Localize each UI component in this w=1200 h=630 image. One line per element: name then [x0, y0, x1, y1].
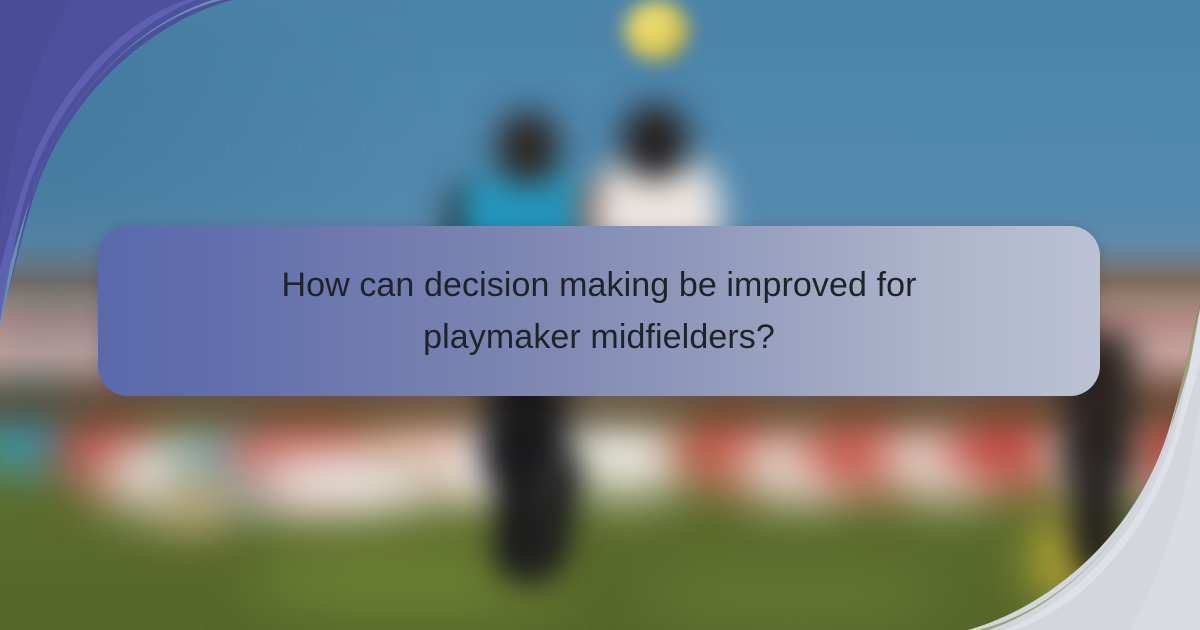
- question-card: How can decision making be improved for …: [98, 226, 1100, 396]
- player-right-head: [622, 105, 688, 179]
- right-player-legs: [1072, 450, 1120, 580]
- player-left-head: [497, 112, 559, 184]
- football-ball: [624, 0, 690, 62]
- question-text: How can decision making be improved for …: [219, 259, 979, 363]
- grass-highlight: [640, 560, 940, 630]
- crowd-blob: [250, 448, 440, 518]
- pitch-marker-blob: [164, 476, 234, 526]
- screenshot-canvas: How can decision making be improved for …: [0, 0, 1200, 630]
